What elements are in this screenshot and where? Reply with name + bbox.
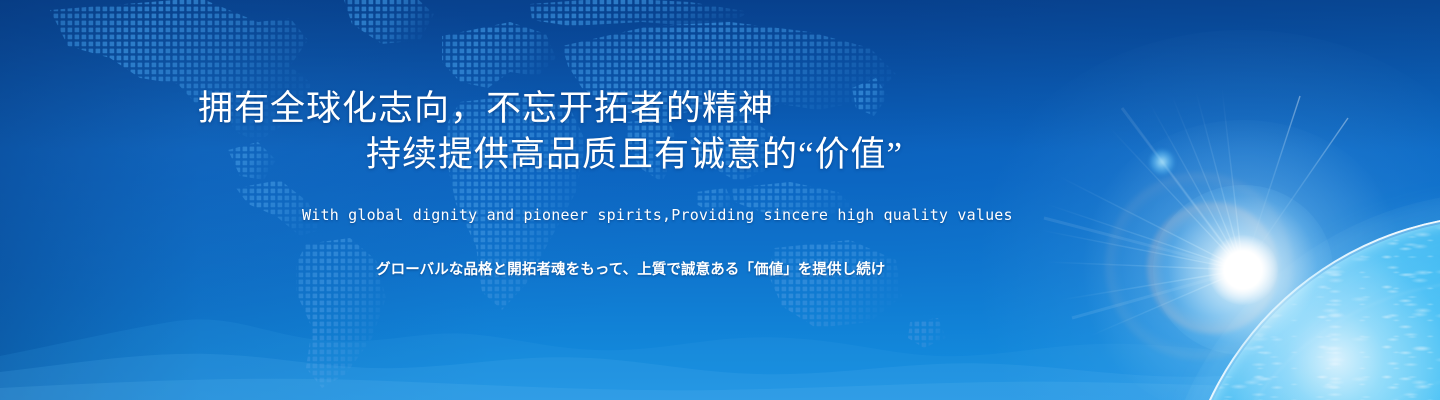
banner-subline-english: With global dignity and pioneer spirits,… [302,206,1013,224]
banner-copy: 拥有全球化志向，不忘开拓者的精神 持续提供高品质且有诚意的“价值” With g… [0,0,1060,400]
sun-core-white [1208,235,1278,305]
headline-line-2: 持续提供高品质且有诚意的“价值” [198,132,903,178]
headline-line-1: 拥有全球化志向，不忘开拓者的精神 [198,89,774,128]
lens-flare-dot-icon [1149,149,1175,175]
banner-headline: 拥有全球化志向，不忘开拓者的精神 持续提供高品质且有诚意的“价值” [198,86,903,178]
hero-banner: 拥有全球化志向，不忘开拓者的精神 持续提供高品质且有诚意的“价值” With g… [0,0,1440,400]
banner-subline-japanese: グローバルな品格と開拓者魂をもって、上質で誠意ある「価値」を提供し続け [376,258,885,279]
